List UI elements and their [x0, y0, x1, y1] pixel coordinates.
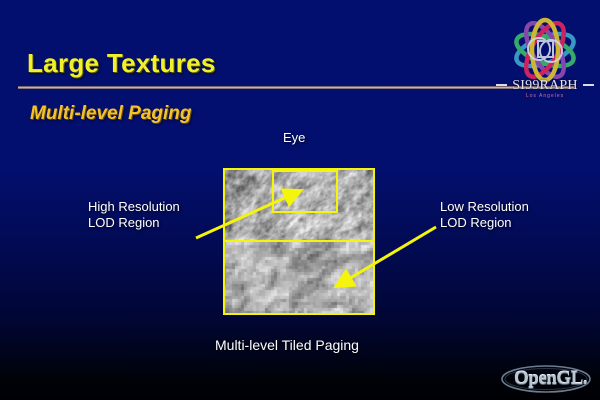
page-title: Large Textures	[27, 48, 216, 79]
figure-caption: Multi-level Tiled Paging	[215, 337, 359, 353]
low-res-label: Low Resolution LOD Region	[440, 199, 529, 231]
opengl-wordmark: OpenGL.	[514, 368, 587, 390]
siggraph-logo: SI99RAPH Los Angeles	[494, 12, 596, 104]
eye-label: Eye	[283, 130, 305, 146]
tile-divider-horizontal	[223, 240, 375, 242]
tiled-texture-figure	[223, 168, 375, 315]
title-divider	[18, 86, 574, 89]
siggraph-city: Los Angeles	[494, 93, 596, 99]
slide-canvas: Large Textures Multi-level Paging SI99RA…	[0, 0, 600, 400]
high-res-label-line2: LOD Region	[88, 215, 180, 231]
page-subtitle: Multi-level Paging	[30, 103, 192, 125]
low-res-label-line1: Low Resolution	[440, 199, 529, 215]
siggraph-wordmark: SI99RAPH	[494, 78, 596, 94]
high-res-label: High Resolution LOD Region	[88, 199, 180, 231]
low-res-label-line2: LOD Region	[440, 215, 529, 231]
opengl-logo: OpenGL.	[500, 364, 592, 394]
high-res-label-line1: High Resolution	[88, 199, 180, 215]
